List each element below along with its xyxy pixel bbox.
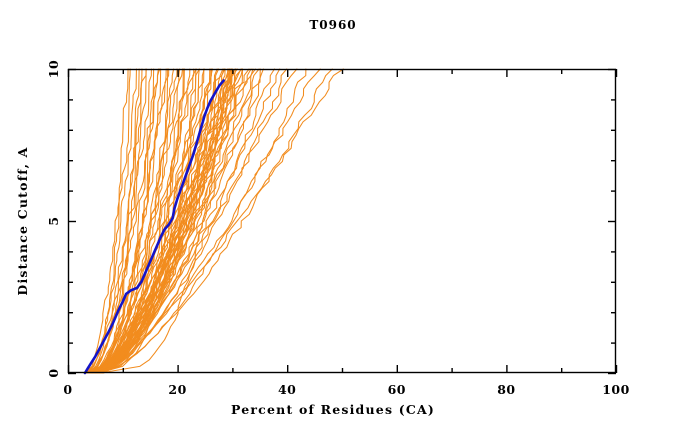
y-axis-label: Distance Cutoff, A bbox=[15, 146, 30, 295]
y-tick-label: 0 bbox=[46, 368, 61, 377]
x-tick-label: 100 bbox=[602, 382, 630, 397]
plot-background bbox=[0, 0, 680, 440]
x-tick-label: 0 bbox=[63, 382, 72, 397]
x-tick-label: 80 bbox=[497, 382, 515, 397]
x-tick-label: 40 bbox=[278, 382, 296, 397]
x-tick-label: 60 bbox=[388, 382, 406, 397]
y-tick-label: 10 bbox=[46, 60, 61, 78]
chart-canvas: T0960 020406080100 0510 Percent of Resid… bbox=[0, 0, 680, 440]
x-axis-label: Percent of Residues (CA) bbox=[231, 402, 435, 417]
y-tick-label: 5 bbox=[46, 216, 61, 225]
distance-cutoff-plot: T0960 020406080100 0510 Percent of Resid… bbox=[0, 0, 680, 440]
x-tick-label: 20 bbox=[168, 382, 186, 397]
page-title: T0960 bbox=[309, 18, 356, 32]
